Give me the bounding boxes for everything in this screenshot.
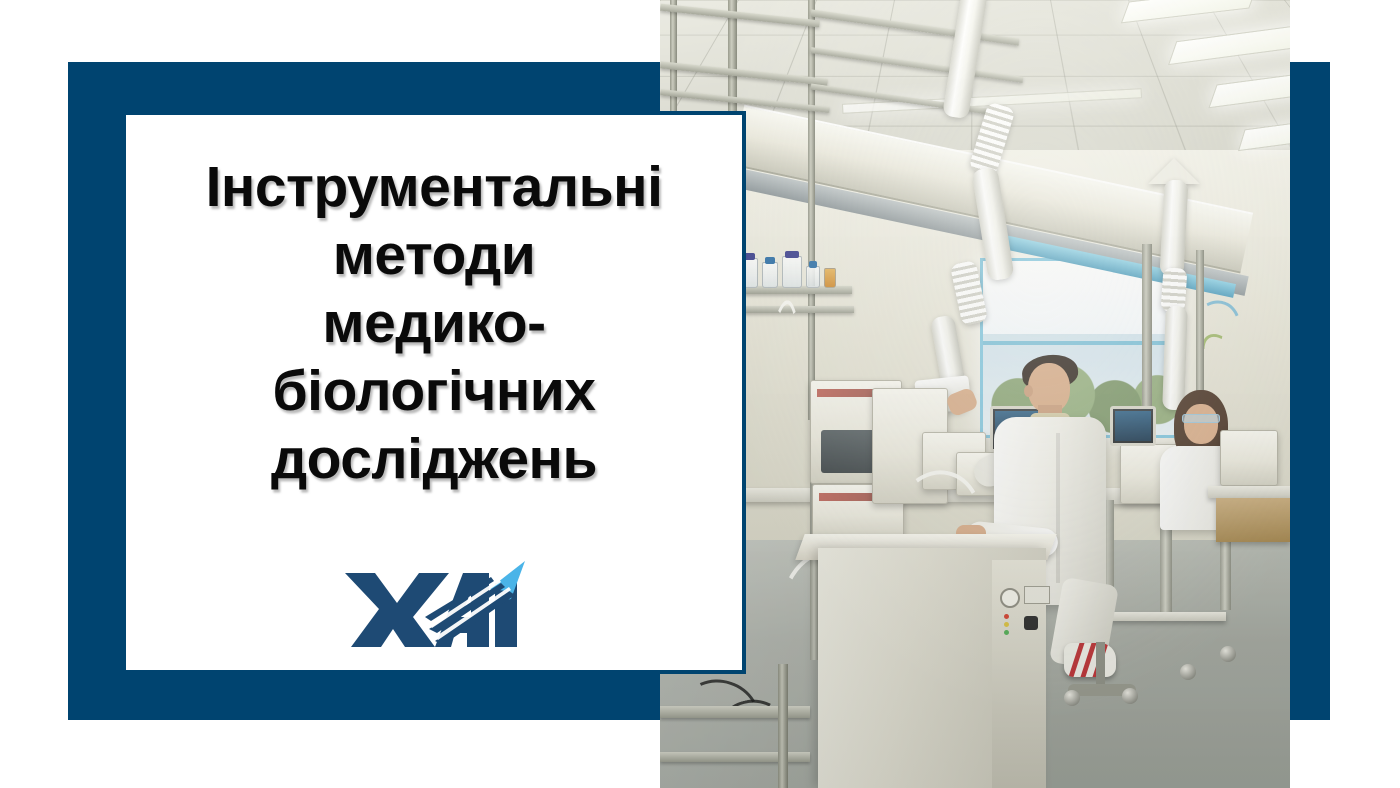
status-led: [1004, 622, 1009, 627]
ear: [1024, 385, 1033, 397]
digital-readout: [1024, 586, 1050, 604]
rack-post: [808, 0, 815, 420]
title-line-3: медико-: [206, 289, 663, 357]
title-line-5: досліджень: [206, 425, 663, 493]
title-line-2: методи: [206, 221, 663, 289]
title-card: Інструментальні методи медико- біологічн…: [122, 111, 746, 674]
reagent-bottle: [782, 256, 802, 288]
bench-instrument: [1220, 430, 1278, 486]
page-title: Інструментальні методи медико- біологічн…: [206, 153, 663, 493]
status-led: [1004, 630, 1009, 635]
face: [1184, 404, 1218, 444]
stool-castor: [1064, 690, 1080, 706]
lab-coat-fold: [1056, 433, 1060, 583]
laboratory-photo: [660, 0, 1290, 788]
photo-scene: [660, 0, 1290, 788]
title-line-1: Інструментальні: [206, 153, 663, 221]
laboratory-bench-top: [1208, 486, 1290, 498]
solvent-bottle: [824, 268, 836, 288]
safety-glasses: [1182, 414, 1220, 423]
fume-extraction-arm: [1160, 179, 1189, 276]
control-knob: [1024, 616, 1038, 630]
reagent-bottle: [762, 262, 778, 288]
title-line-4: біологічних: [206, 357, 663, 425]
stool-castor: [1220, 646, 1236, 662]
rack-post: [778, 664, 788, 788]
pressure-gauge: [1000, 588, 1020, 608]
xai-logo: [339, 555, 529, 647]
title-card-content: Інструментальні методи медико- біологічн…: [126, 115, 742, 670]
xai-logo-icon: [339, 555, 529, 647]
stool-castor: [1180, 664, 1196, 680]
wood-cabinet: [1216, 498, 1290, 542]
stool-castor: [1122, 688, 1138, 704]
shoe: [1064, 643, 1116, 677]
slide-canvas: Інструментальні методи медико- біологічн…: [0, 0, 1400, 788]
status-led: [1004, 614, 1009, 619]
reagent-bottle: [806, 266, 820, 288]
